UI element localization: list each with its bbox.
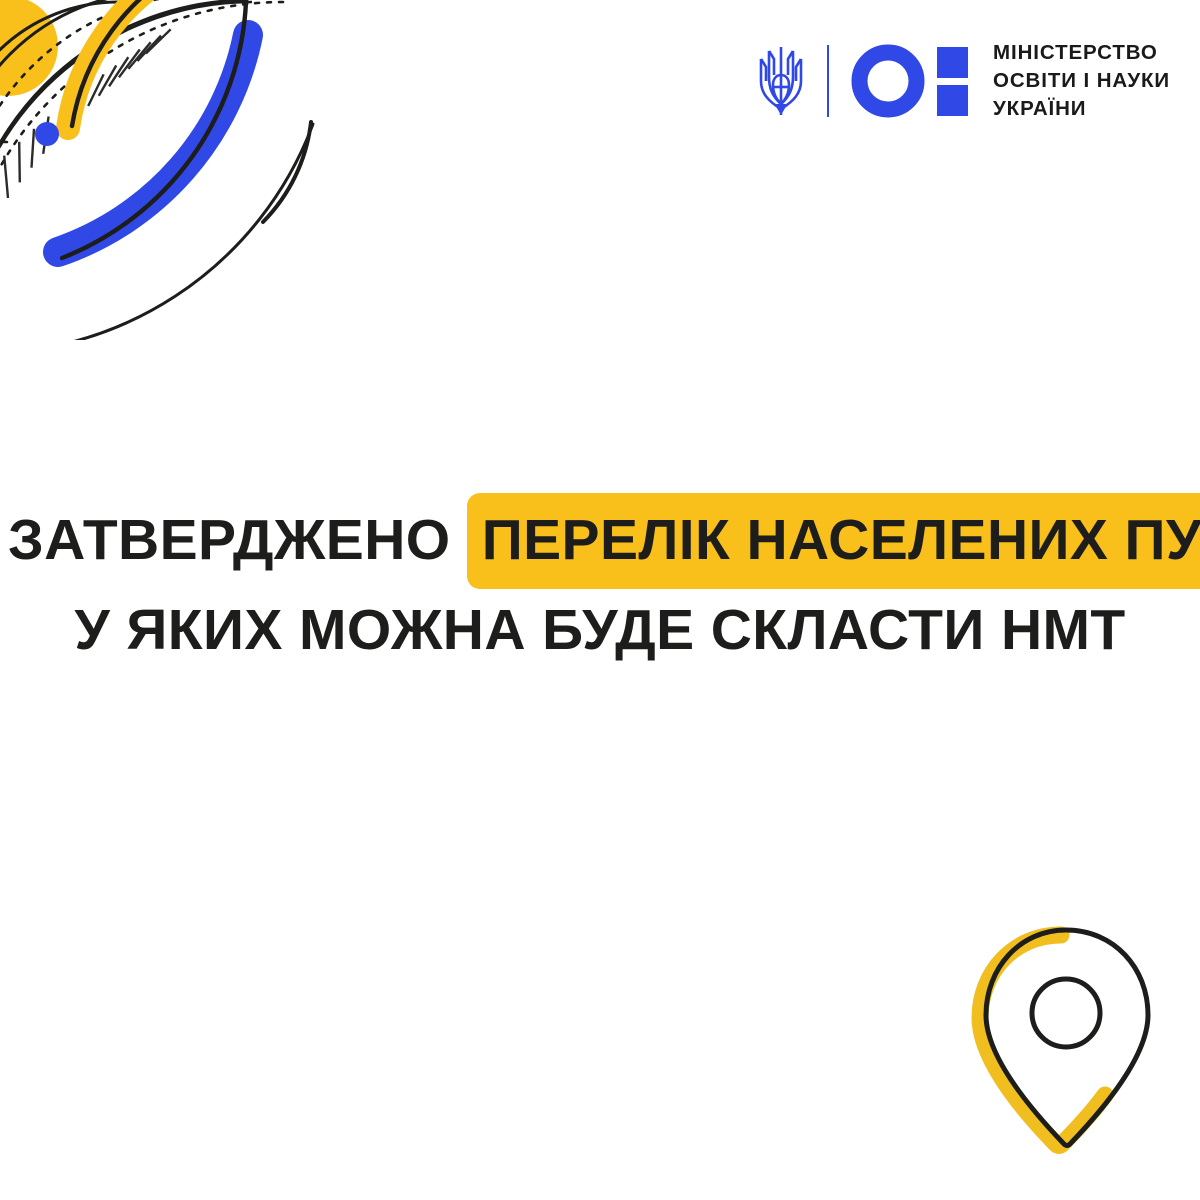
radial-tick bbox=[55, 105, 63, 141]
black-arc bbox=[72, 0, 190, 126]
radial-tick bbox=[146, 29, 171, 53]
yellow-disc bbox=[0, 0, 58, 96]
radial-tick bbox=[43, 117, 48, 154]
ministry-name-block: МІНІСТЕРСТВО ОСВІТИ І НАУКИ УКРАЇНИ bbox=[993, 39, 1170, 124]
poster-canvas: МІНІСТЕРСТВО ОСВІТИ І НАУКИ УКРАЇНИ ЗАТВ… bbox=[0, 0, 1200, 1200]
radial-tick bbox=[99, 66, 116, 96]
black-arc bbox=[0, 2, 252, 292]
dotted-arc bbox=[0, 2, 283, 326]
headline-highlight-text: ПЕРЕЛІК НАСЕЛЕНИХ ПУНКТІВ, bbox=[467, 493, 1200, 589]
blue-dot bbox=[35, 122, 59, 146]
headline-line-1: ЗАТВЕРДЖЕНО ПЕРЕЛІК НАСЕЛЕНИХ ПУНКТІВ, bbox=[0, 512, 1200, 569]
black-arc bbox=[0, 2, 118, 172]
concentric-arcs-graphic bbox=[0, 0, 340, 340]
mon-circle-squares-icon bbox=[851, 44, 971, 118]
headline-plain-text: ЗАТВЕРДЖЕНО bbox=[8, 508, 451, 572]
dotted-arc-group bbox=[0, 0, 283, 326]
radial-tick bbox=[137, 36, 161, 61]
radial-tick bbox=[119, 50, 140, 78]
black-arc bbox=[62, 2, 246, 258]
radial-tick bbox=[88, 74, 103, 106]
logo-square-bottom bbox=[937, 85, 968, 116]
radial-tick-group bbox=[4, 29, 171, 198]
black-arc bbox=[0, 0, 247, 287]
black-arc bbox=[0, 124, 313, 340]
blue-arc bbox=[58, 35, 248, 252]
ministry-name-line-2: ОСВІТИ І НАУКИ bbox=[993, 67, 1170, 95]
yellow-arc bbox=[68, 0, 178, 128]
ukraine-trident-icon bbox=[757, 41, 805, 121]
black-arc bbox=[0, 0, 160, 204]
map-pin-inner-circle bbox=[1032, 979, 1100, 1047]
radial-tick bbox=[77, 84, 90, 117]
radial-tick bbox=[19, 142, 20, 183]
black-arc-group bbox=[0, 0, 313, 340]
ministry-name-line-3: УКРАЇНИ bbox=[993, 95, 1170, 123]
dotted-arc bbox=[0, 142, 7, 148]
radial-tick bbox=[66, 94, 77, 128]
logo-square-top bbox=[937, 47, 968, 78]
ministry-name-line-1: МІНІСТЕРСТВО bbox=[993, 39, 1170, 67]
dotted-arc bbox=[0, 0, 206, 244]
ministry-logo-lockup: МІНІСТЕРСТВО ОСВІТИ І НАУКИ УКРАЇНИ bbox=[757, 33, 1170, 129]
logo-divider bbox=[827, 45, 829, 117]
radial-tick bbox=[109, 57, 128, 86]
headline-block: ЗАТВЕРДЖЕНО ПЕРЕЛІК НАСЕЛЕНИХ ПУНКТІВ, У… bbox=[0, 512, 1200, 659]
map-pin-icon bbox=[948, 900, 1168, 1160]
radial-tick bbox=[4, 156, 8, 198]
radial-tick bbox=[128, 42, 150, 69]
black-arc-detached bbox=[263, 122, 311, 222]
radial-tick bbox=[32, 129, 35, 168]
logo-ring bbox=[860, 53, 917, 110]
headline-line-2: У ЯКИХ МОЖНА БУДЕ СКЛАСТИ НМТ bbox=[0, 602, 1200, 659]
